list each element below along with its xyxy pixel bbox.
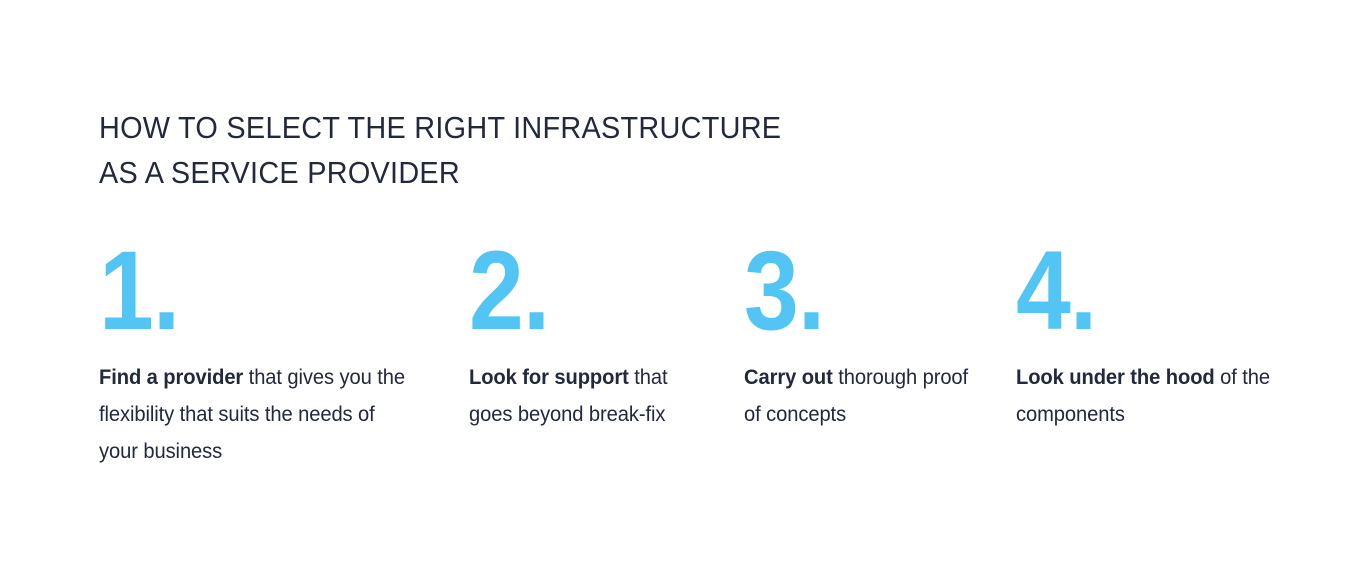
page-title: HOW TO SELECT THE RIGHT INFRASTRUCTURE A… — [99, 105, 936, 195]
step-number-4: 4. — [1016, 243, 1271, 339]
step-number-3: 3. — [744, 243, 964, 339]
step-item-3: 3. Carry out thorough proof of concepts — [744, 243, 994, 454]
step-lead-1: Find a provider — [99, 366, 243, 389]
infographic-canvas: HOW TO SELECT THE RIGHT INFRASTRUCTURE A… — [0, 0, 1358, 565]
step-item-4: 4. Look under the hood of the components — [1016, 243, 1306, 454]
step-number-2: 2. — [469, 243, 689, 339]
step-text-2: Look for support that goes beyond break-… — [469, 359, 709, 433]
step-item-2: 2. Look for support that goes beyond bre… — [469, 243, 719, 454]
step-text-3: Carry out thorough proof of concepts — [744, 359, 984, 433]
step-lead-3: Carry out — [744, 366, 833, 389]
step-lead-2: Look for support — [469, 366, 629, 389]
step-lead-4: Look under the hood — [1016, 366, 1215, 389]
step-number-1: 1. — [99, 243, 389, 339]
steps-list: 1. Find a provider that gives you the fl… — [0, 243, 1358, 483]
step-item-1: 1. Find a provider that gives you the fl… — [99, 243, 429, 491]
step-text-4: Look under the hood of the components — [1016, 359, 1294, 433]
step-text-1: Find a provider that gives you the flexi… — [99, 359, 416, 470]
